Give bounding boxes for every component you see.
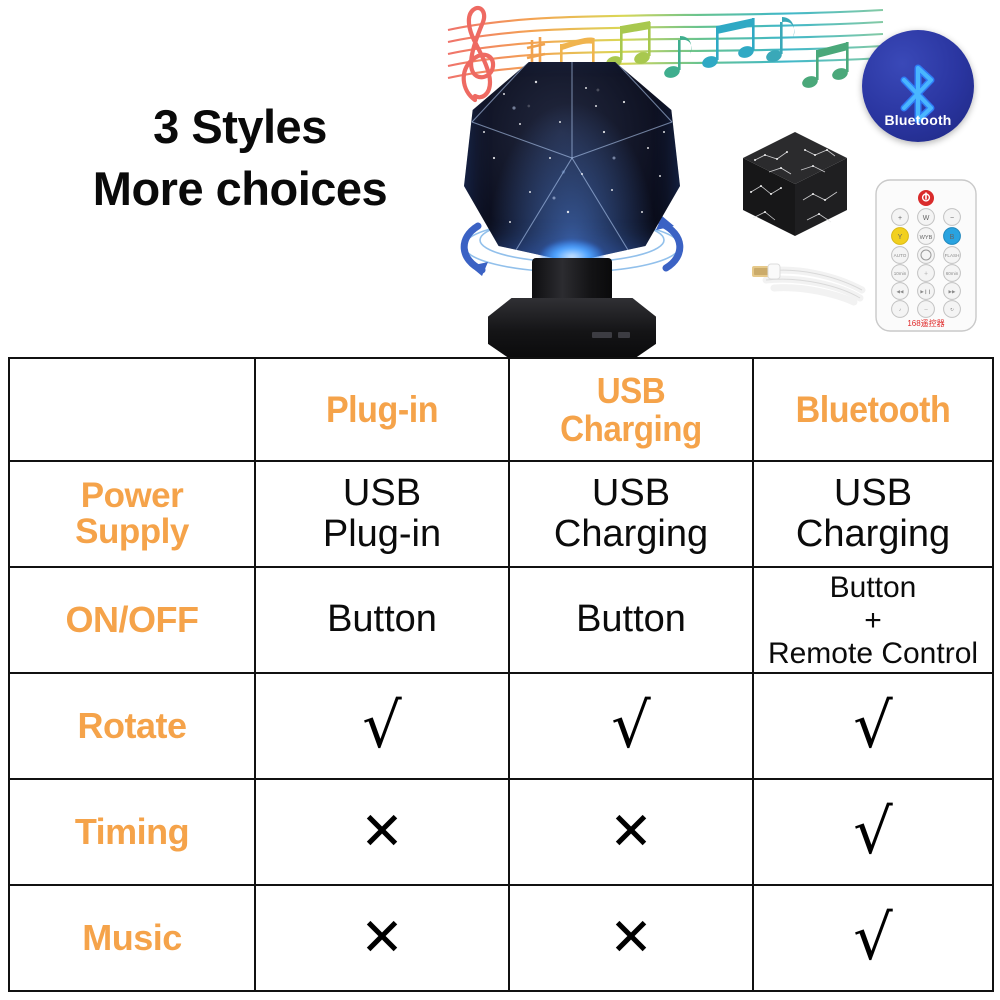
constellation-gift-box xyxy=(735,122,855,244)
cross-mark-icon: ✕ xyxy=(360,912,404,964)
cell-on-off-usb-charging: Button xyxy=(509,567,753,673)
svg-text:▶▶: ▶▶ xyxy=(948,289,956,294)
remote-footer-label: 168遥控器 xyxy=(907,318,944,328)
check-mark-icon: √ xyxy=(853,801,893,863)
header-cell-usb-charging: USB Charging xyxy=(509,358,753,461)
svg-text:AUTO: AUTO xyxy=(894,253,907,258)
svg-text:+: + xyxy=(898,215,902,222)
row-label-on-off: ON/OFF xyxy=(9,567,255,673)
svg-text:−: − xyxy=(950,215,954,222)
svg-text:10min: 10min xyxy=(894,271,907,276)
row-label-timing: Timing xyxy=(9,779,255,885)
cell-rotate-plug-in: √ xyxy=(255,673,509,779)
projector-dome xyxy=(464,62,680,262)
row-label-line1: Music xyxy=(14,919,250,957)
svg-text:WYB: WYB xyxy=(920,235,933,241)
row-label-line1: Power xyxy=(14,478,250,514)
header-cell-plug-in: Plug-in xyxy=(255,358,509,461)
comparison-table-wrapper: Plug-in USB Charging Bluetooth Power Sup… xyxy=(8,357,992,990)
check-mark-icon: √ xyxy=(611,695,651,757)
header-usb-line1: USB xyxy=(523,372,738,410)
check-mark-icon: √ xyxy=(853,907,893,969)
table-row-music: Music ✕ ✕ √ xyxy=(9,885,993,991)
check-mark-icon: √ xyxy=(853,695,893,757)
headline-line-2: More choices xyxy=(40,158,440,220)
cell-power-supply-plug-in: USB Plug-in xyxy=(255,461,509,567)
infographic-page: 3 Styles More choices xyxy=(0,0,1000,1000)
cross-mark-icon: ✕ xyxy=(360,806,404,858)
svg-text:FLASH: FLASH xyxy=(945,253,960,258)
table-row-power-supply: Power Supply USB Plug-in USB Charging US… xyxy=(9,461,993,567)
cell-music-usb-charging: ✕ xyxy=(509,885,753,991)
cell-rotate-bluetooth: √ xyxy=(753,673,993,779)
header-bluetooth-label: Bluetooth xyxy=(767,391,979,428)
cell-power-supply-usb-charging: USB Charging xyxy=(509,461,753,567)
cross-mark-icon: ✕ xyxy=(609,912,653,964)
row-label-line1: Timing xyxy=(14,813,250,851)
headline-line-1: 3 Styles xyxy=(40,96,440,158)
row-label-line2: Supply xyxy=(14,514,250,550)
svg-text:W: W xyxy=(923,215,930,222)
table-row-on-off: ON/OFF Button Button Button + Remote Con… xyxy=(9,567,993,673)
row-label-line1: ON/OFF xyxy=(14,601,250,639)
row-label-music: Music xyxy=(9,885,255,991)
svg-text:◀◀: ◀◀ xyxy=(896,289,904,294)
table-row-timing: Timing ✕ ✕ √ xyxy=(9,779,993,885)
bluetooth-badge-label: Bluetooth xyxy=(862,112,974,128)
page-title: 3 Styles More choices xyxy=(40,96,440,220)
constellation-facets xyxy=(464,62,680,262)
table-row-rotate: Rotate √ √ √ xyxy=(9,673,993,779)
cell-timing-usb-charging: ✕ xyxy=(509,779,753,885)
cell-power-supply-bluetooth: USB Charging xyxy=(753,461,993,567)
svg-text:♪: ♪ xyxy=(899,307,901,312)
svg-text:－: － xyxy=(924,307,929,312)
svg-text:＋: ＋ xyxy=(924,271,929,276)
cross-mark-icon: ✕ xyxy=(609,806,653,858)
cell-timing-bluetooth: √ xyxy=(753,779,993,885)
bluetooth-badge: Bluetooth xyxy=(862,30,974,142)
header-cell-bluetooth: Bluetooth xyxy=(753,358,993,461)
cell-on-off-plug-in: Button xyxy=(255,567,509,673)
lamp-base xyxy=(488,298,656,357)
cell-music-bluetooth: √ xyxy=(753,885,993,991)
cell-timing-plug-in: ✕ xyxy=(255,779,509,885)
hero-section: 3 Styles More choices xyxy=(0,0,1000,357)
remote-control[interactable]: + W − Y WYB B AUTO FLASH 10min ＋ 60min ◀… xyxy=(872,178,980,333)
row-label-power-supply: Power Supply xyxy=(9,461,255,567)
cell-music-plug-in: ✕ xyxy=(255,885,509,991)
svg-text:60min: 60min xyxy=(946,271,959,276)
header-usb-line2: Charging xyxy=(523,410,738,448)
header-plug-in-label: Plug-in xyxy=(270,391,494,428)
star-projector-lamp xyxy=(448,62,696,357)
svg-text:Y: Y xyxy=(898,234,903,241)
svg-text:↻: ↻ xyxy=(950,307,954,312)
row-label-rotate: Rotate xyxy=(9,673,255,779)
cell-on-off-bluetooth: Button + Remote Control xyxy=(753,567,993,673)
row-label-line1: Rotate xyxy=(14,707,250,745)
usb-cable xyxy=(744,250,872,316)
comparison-table: Plug-in USB Charging Bluetooth Power Sup… xyxy=(8,357,994,992)
svg-text:B: B xyxy=(950,234,955,241)
check-mark-icon: √ xyxy=(362,695,402,757)
header-cell-empty xyxy=(9,358,255,461)
table-header-row: Plug-in USB Charging Bluetooth xyxy=(9,358,993,461)
cell-rotate-usb-charging: √ xyxy=(509,673,753,779)
